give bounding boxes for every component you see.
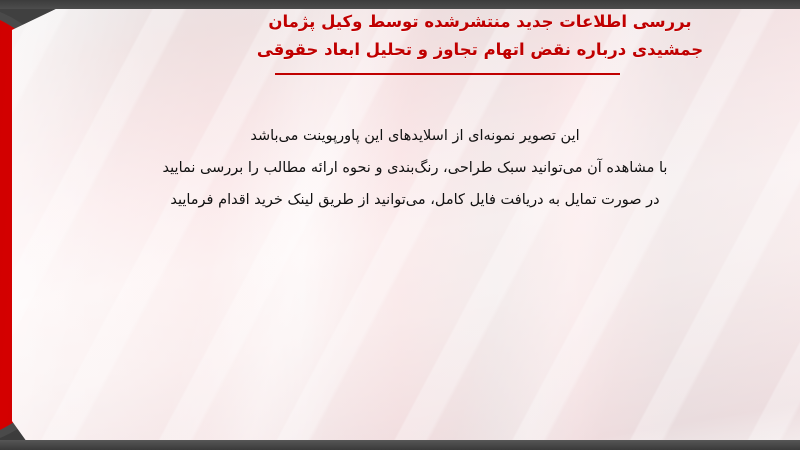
slide-title-line-2: جمشیدی درباره نقض اتهام تجاوز و تحلیل اب… [160,36,800,64]
body-line-3: در صورت تمایل به دریافت فایل کامل، می‌تو… [30,184,800,216]
slide-title-line-1: بررسی اطلاعات جدید منتشرشده توسط وکیل پژ… [160,8,800,36]
slide-body-text: این تصویر نمونه‌ای از اسلایدهای این پاور… [30,120,800,216]
title-underline-rule [275,73,620,75]
presentation-slide: بررسی اطلاعات جدید منتشرشده توسط وکیل پژ… [0,0,800,450]
body-line-1: این تصویر نمونه‌ای از اسلایدهای این پاور… [30,120,800,152]
body-line-2: با مشاهده آن می‌توانید سبک طراحی، رنگ‌بن… [30,152,800,184]
slide-title: بررسی اطلاعات جدید منتشرشده توسط وکیل پژ… [160,8,800,64]
slide-content: بررسی اطلاعات جدید منتشرشده توسط وکیل پژ… [0,0,800,450]
slide-bottom-border-band [0,440,800,450]
slide-top-border-band [0,0,800,9]
